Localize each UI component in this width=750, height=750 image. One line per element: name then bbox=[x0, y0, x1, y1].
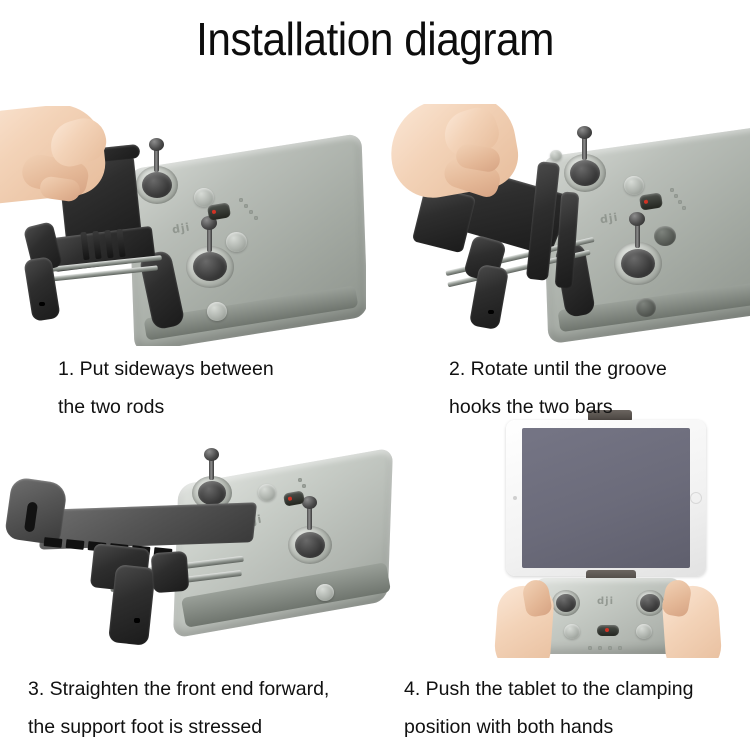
step-3-caption-line-1: 3. Straighten the front end forward, bbox=[28, 670, 329, 708]
led-indicator-2 bbox=[598, 646, 602, 650]
led-indicator-2 bbox=[302, 484, 306, 488]
led-indicator-1 bbox=[588, 646, 592, 650]
shutter-button-2[interactable] bbox=[636, 298, 656, 317]
joystick-right-1[interactable] bbox=[186, 246, 234, 288]
joystick-right-4[interactable] bbox=[636, 590, 664, 616]
support-foot-slot-1 bbox=[39, 302, 45, 306]
joystick-right-knob-3[interactable] bbox=[302, 496, 317, 509]
power-button-4[interactable] bbox=[564, 624, 580, 639]
step-4-caption-line-2: position with both hands bbox=[404, 708, 693, 746]
support-foot-3 bbox=[108, 564, 156, 646]
step-2-caption-line-1: 2. Rotate until the groove bbox=[449, 350, 667, 388]
bracket-slot bbox=[66, 539, 85, 550]
led-indicator-1 bbox=[239, 198, 243, 202]
return-home-button-1[interactable] bbox=[226, 232, 247, 252]
step-1-caption: 1. Put sideways between the two rods bbox=[58, 350, 274, 426]
joystick-left-knob-1[interactable] bbox=[149, 138, 164, 151]
support-foot-slot-2 bbox=[488, 310, 494, 314]
led-indicator-4 bbox=[618, 646, 622, 650]
tablet-camera-4 bbox=[513, 496, 517, 500]
page-title: Installation diagram bbox=[30, 14, 720, 64]
step-1-caption-line-2: the two rods bbox=[58, 388, 274, 426]
joystick-left-knob-3[interactable] bbox=[204, 448, 219, 461]
return-home-button-2[interactable] bbox=[654, 226, 676, 246]
joystick-left-4[interactable] bbox=[552, 590, 580, 616]
step-2-caption: 2. Rotate until the groove hooks the two… bbox=[449, 350, 667, 426]
step-4-image: dji bbox=[466, 410, 750, 658]
step-3-caption-line-2: the support foot is stressed bbox=[28, 708, 329, 746]
power-button-3[interactable] bbox=[258, 484, 276, 501]
led-indicator-4 bbox=[254, 216, 258, 220]
led-indicator-4 bbox=[682, 206, 686, 210]
bracket-hinge-3 bbox=[151, 551, 190, 593]
led-indicator-2 bbox=[674, 194, 678, 198]
step-1-caption-line-1: 1. Put sideways between bbox=[58, 350, 274, 388]
step-4-caption-line-1: 4. Push the tablet to the clamping bbox=[404, 670, 693, 708]
tablet-home-button-4[interactable] bbox=[690, 492, 702, 504]
step-3-caption: 3. Straighten the front end forward, the… bbox=[28, 670, 329, 746]
step-1-image: dji bbox=[0, 106, 366, 346]
bracket-slot bbox=[44, 537, 63, 548]
tablet-screen-4 bbox=[522, 428, 690, 568]
step-2-caption-line-2: hooks the two bars bbox=[449, 388, 667, 426]
support-foot-slot-3 bbox=[134, 618, 140, 623]
return-home-button-4[interactable] bbox=[636, 624, 652, 639]
step-2-image: dji bbox=[382, 104, 750, 349]
led-indicator-3 bbox=[249, 210, 253, 214]
tablet-4 bbox=[506, 420, 706, 576]
power-button-2[interactable] bbox=[624, 176, 644, 195]
led-indicator-2 bbox=[244, 204, 248, 208]
side-button-2[interactable] bbox=[550, 150, 562, 161]
step-4-caption: 4. Push the tablet to the clamping posit… bbox=[404, 670, 693, 746]
shutter-button-3[interactable] bbox=[316, 584, 334, 601]
dji-logo-4: dji bbox=[597, 596, 614, 607]
joystick-right-knob-2[interactable] bbox=[629, 212, 645, 226]
led-indicator-3 bbox=[608, 646, 612, 650]
led-indicator-3 bbox=[678, 200, 682, 204]
led-indicator-1 bbox=[298, 478, 302, 482]
record-switch-4[interactable] bbox=[597, 625, 619, 636]
joystick-left-knob-2[interactable] bbox=[577, 126, 592, 139]
step-3-image: dji bbox=[0, 440, 416, 665]
joystick-right-3[interactable] bbox=[288, 526, 332, 564]
shutter-button-1[interactable] bbox=[207, 302, 227, 321]
led-indicator-1 bbox=[670, 188, 674, 192]
joystick-right-2[interactable] bbox=[614, 242, 662, 285]
installation-diagram-page: Installation diagram bbox=[0, 0, 750, 750]
remote-controller-body-4 bbox=[534, 578, 682, 654]
